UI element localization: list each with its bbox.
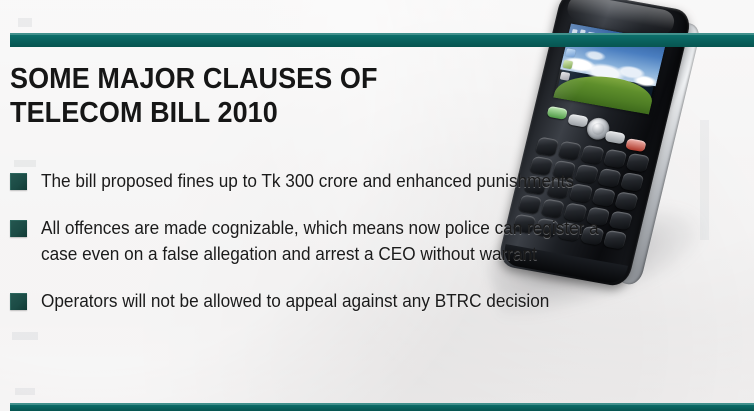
page-title-line-2: TELECOM BILL 2010	[10, 96, 447, 130]
bottom-accent-bar	[10, 403, 754, 411]
list-item: All offences are made cognizable, which …	[10, 215, 650, 267]
page-title-line-1: SOME MAJOR CLAUSES OF	[10, 62, 447, 96]
clause-text: Operators will not be allowed to appeal …	[41, 288, 623, 314]
list-item: Operators will not be allowed to appeal …	[10, 288, 650, 314]
clause-text: All offences are made cognizable, which …	[41, 215, 623, 267]
top-accent-bar	[10, 33, 754, 47]
trackball-icon	[585, 116, 612, 141]
square-bullet-icon	[10, 220, 27, 237]
clause-list: The bill proposed fines up to Tk 300 cro…	[10, 168, 650, 314]
keypad-key	[535, 137, 560, 157]
paper-speck	[14, 160, 36, 167]
menu-key-icon	[567, 114, 588, 128]
paper-speck	[12, 332, 38, 340]
back-key-icon	[604, 130, 625, 144]
infographic-canvas: SOME MAJOR CLAUSES OF TELECOM BILL 2010 …	[0, 0, 754, 411]
paper-speck	[700, 120, 709, 240]
app-icon	[562, 60, 573, 69]
wallpaper-field	[553, 68, 656, 115]
keypad-key	[603, 149, 628, 169]
end-key-icon	[625, 138, 646, 152]
keypad-key	[580, 145, 605, 165]
page-title: SOME MAJOR CLAUSES OF TELECOM BILL 2010	[10, 62, 447, 130]
square-bullet-icon	[10, 173, 27, 190]
clause-text: The bill proposed fines up to Tk 300 cro…	[41, 168, 623, 194]
app-icon	[565, 48, 576, 57]
send-key-icon	[547, 106, 568, 120]
app-icon	[560, 72, 571, 81]
list-item: The bill proposed fines up to Tk 300 cro…	[10, 168, 650, 194]
paper-speck	[18, 18, 32, 27]
accent-bar-highlight	[10, 33, 754, 35]
paper-speck	[15, 388, 35, 395]
keypad-key	[557, 141, 582, 161]
phone-control-cluster	[542, 105, 652, 152]
square-bullet-icon	[10, 293, 27, 310]
accent-bar-highlight	[10, 403, 754, 405]
